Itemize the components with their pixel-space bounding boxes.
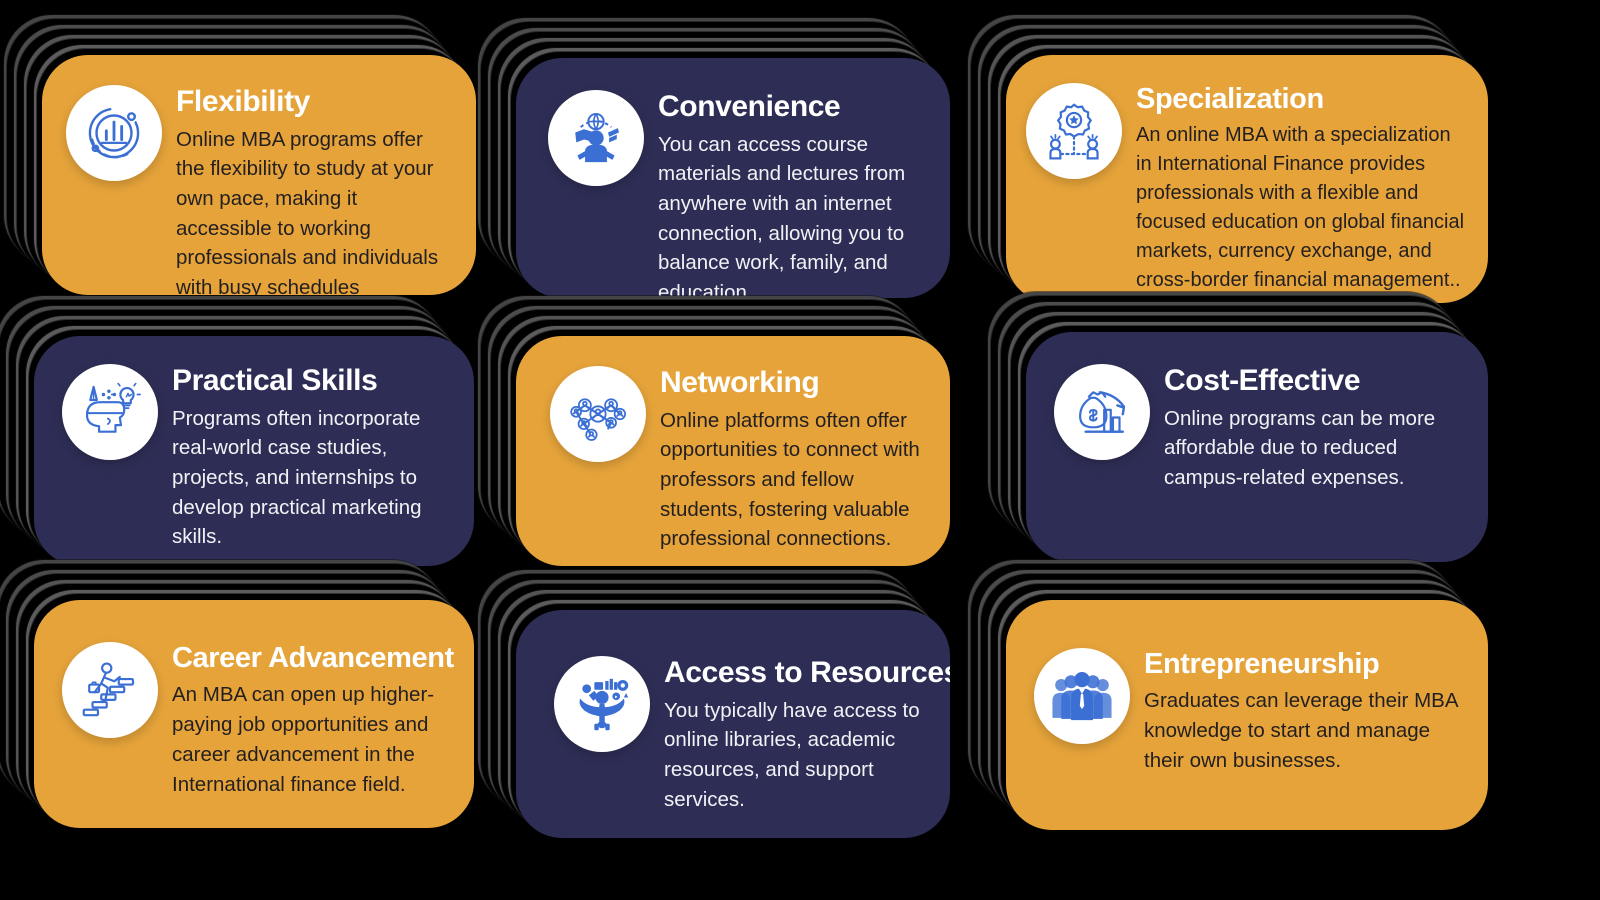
head-idea-bulb-icon (62, 364, 158, 460)
group-of-people-icon (1034, 648, 1130, 744)
card-description: An MBA can open up higher-paying job opp… (172, 680, 452, 799)
card-flexibility[interactable]: Flexibility Online MBA programs offer th… (42, 55, 476, 295)
infographic-board: Flexibility Online MBA programs offer th… (0, 0, 1600, 900)
card-title: Specialization (1136, 83, 1470, 115)
card-title: Practical Skills (172, 364, 448, 398)
card-description: Online programs can be more affordable d… (1164, 404, 1462, 493)
card-entrepreneurship[interactable]: Entrepreneurship Graduates can leverage … (1006, 600, 1488, 830)
card-access-to-resources[interactable]: Access to Resources You typically have a… (516, 610, 950, 838)
person-climbing-stairs-icon (62, 642, 158, 738)
money-bag-declining-chart-icon (1054, 364, 1150, 460)
card-title: Networking (660, 366, 924, 400)
people-network-nodes-icon (550, 366, 646, 462)
card-title: Flexibility (176, 85, 450, 119)
card-convenience[interactable]: Convenience You can access course materi… (516, 58, 950, 298)
card-description: You typically have access to online libr… (664, 696, 924, 815)
card-title: Convenience (658, 90, 924, 124)
card-practical-skills[interactable]: Practical Skills Programs often incorpor… (34, 336, 474, 566)
bar-chart-orbit-icon (66, 85, 162, 181)
card-title: Entrepreneurship (1144, 648, 1462, 680)
card-description: Programs often incorporate real-world ca… (172, 404, 448, 553)
card-cost-effective[interactable]: Cost-Effective Online programs can be mo… (1026, 332, 1488, 562)
card-networking[interactable]: Networking Online platforms often offer … (516, 336, 950, 566)
person-resources-cloud-icon (554, 656, 650, 752)
card-description: Graduates can leverage their MBA knowled… (1144, 686, 1462, 775)
card-description: Online platforms often offer opportuniti… (660, 406, 924, 555)
card-specialization[interactable]: Specialization An online MBA with a spec… (1006, 55, 1488, 303)
card-title: Career Advancement (172, 642, 452, 674)
card-career-advancement[interactable]: Career Advancement An MBA can open up hi… (34, 600, 474, 828)
card-description: Online MBA programs offer the flexibilit… (176, 125, 450, 295)
gear-star-people-network-icon (1026, 83, 1122, 179)
person-globe-book-cap-icon (548, 90, 644, 186)
card-title: Cost-Effective (1164, 364, 1462, 398)
card-title: Access to Resources (664, 656, 924, 690)
card-description: An online MBA with a specialization in I… (1136, 121, 1470, 295)
card-description: You can access course materials and lect… (658, 130, 924, 298)
